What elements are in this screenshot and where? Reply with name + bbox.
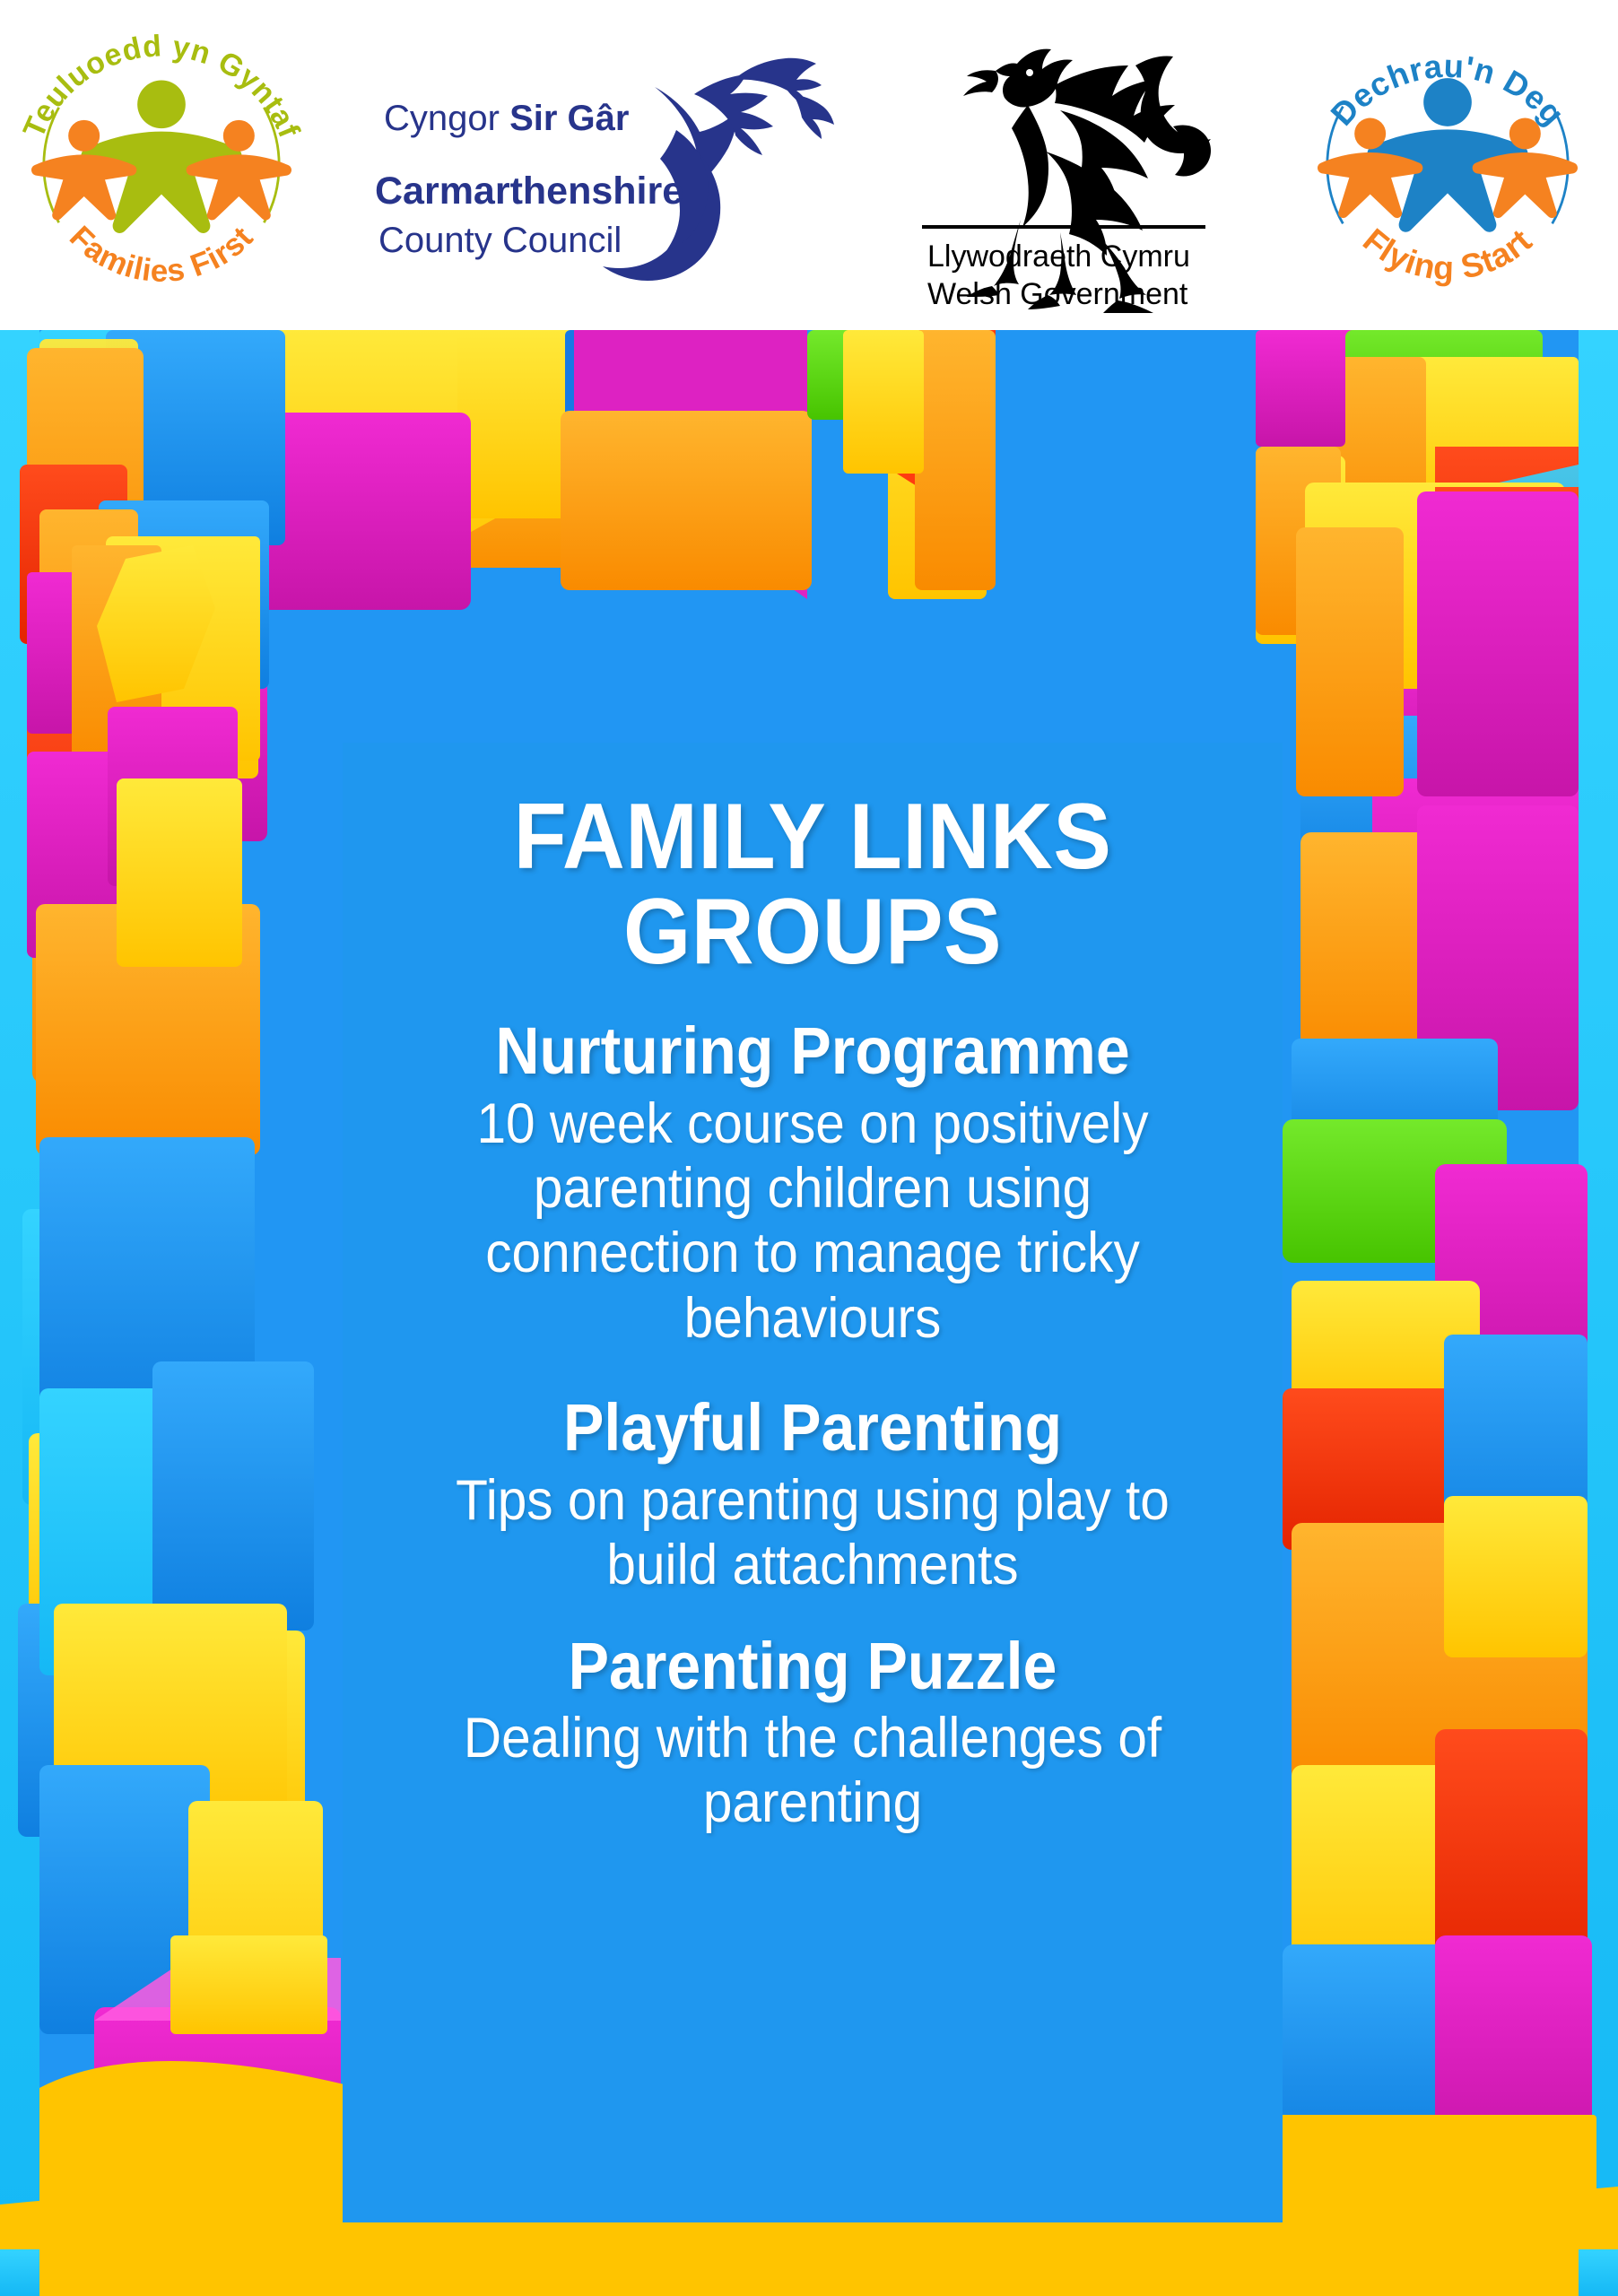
page-title: FAMILY LINKS GROUPS bbox=[404, 789, 1221, 979]
section-body: Tips on parenting using play to build at… bbox=[404, 1468, 1221, 1598]
welsh-government-logo-slot: Llywodraeth Cymru Welsh Government bbox=[875, 0, 1252, 330]
ccc-line-1-bold: Sir Gâr bbox=[509, 99, 629, 138]
section-body: 10 week course on positively parenting c… bbox=[404, 1091, 1221, 1352]
carmarthenshire-county-council-logo: Cyngor Sir Gâr Carmarthenshire County Co… bbox=[357, 44, 841, 286]
section-nurturing-programme: Nurturing Programme 10 week course on po… bbox=[373, 1013, 1252, 1351]
welsh-government-english-text: Welsh Government bbox=[927, 277, 1188, 311]
welsh-government-welsh-text: Llywodraeth Cymru bbox=[927, 239, 1190, 274]
ccc-line-2: Carmarthenshire bbox=[375, 170, 683, 213]
welsh-government-icon: Llywodraeth Cymru Welsh Government bbox=[884, 17, 1243, 313]
section-heading: Nurturing Programme bbox=[408, 1013, 1217, 1089]
families-first-logo-slot: Teuluoedd yn Gyntaf Families First bbox=[0, 0, 323, 330]
welsh-government-logo: Llywodraeth Cymru Welsh Government bbox=[884, 17, 1243, 313]
section-heading: Parenting Puzzle bbox=[408, 1629, 1217, 1704]
section-heading: Playful Parenting bbox=[408, 1390, 1217, 1465]
families-first-icon: Teuluoedd yn Gyntaf Families First bbox=[4, 8, 318, 322]
ccc-line-3: County Council bbox=[378, 221, 622, 260]
ccc-line-1-light: Cyngor bbox=[384, 99, 509, 138]
poster: FAMILY LINKS GROUPS Nurturing Programme … bbox=[0, 0, 1618, 2296]
spacer bbox=[373, 1607, 1252, 1629]
flying-start-logo-slot: Dechrau'n Deg Flying Start bbox=[1277, 0, 1618, 330]
section-playful-parenting: Playful Parenting Tips on parenting usin… bbox=[373, 1390, 1252, 1597]
content-panel: FAMILY LINKS GROUPS Nurturing Programme … bbox=[343, 743, 1283, 2222]
section-parenting-puzzle: Parenting Puzzle Dealing with the challe… bbox=[373, 1629, 1252, 1836]
spacer bbox=[373, 1360, 1252, 1390]
flying-start-icon: Dechrau'n Deg Flying Start bbox=[1291, 8, 1605, 322]
section-body: Dealing with the challenges of parenting bbox=[404, 1706, 1221, 1836]
logo-header-band: Teuluoedd yn Gyntaf Families First bbox=[0, 0, 1618, 330]
families-first-logo: Teuluoedd yn Gyntaf Families First bbox=[4, 8, 318, 322]
flying-start-logo: Dechrau'n Deg Flying Start bbox=[1291, 8, 1605, 322]
carmarthenshire-icon: Cyngor Sir Gâr Carmarthenshire County Co… bbox=[357, 44, 841, 286]
ccc-line-1: Cyngor Sir Gâr bbox=[384, 99, 629, 138]
carmarthenshire-logo-slot: Cyngor Sir Gâr Carmarthenshire County Co… bbox=[348, 0, 850, 330]
page-title-line-1: FAMILY LINKS bbox=[404, 789, 1221, 884]
page-title-line-2: GROUPS bbox=[404, 884, 1221, 979]
